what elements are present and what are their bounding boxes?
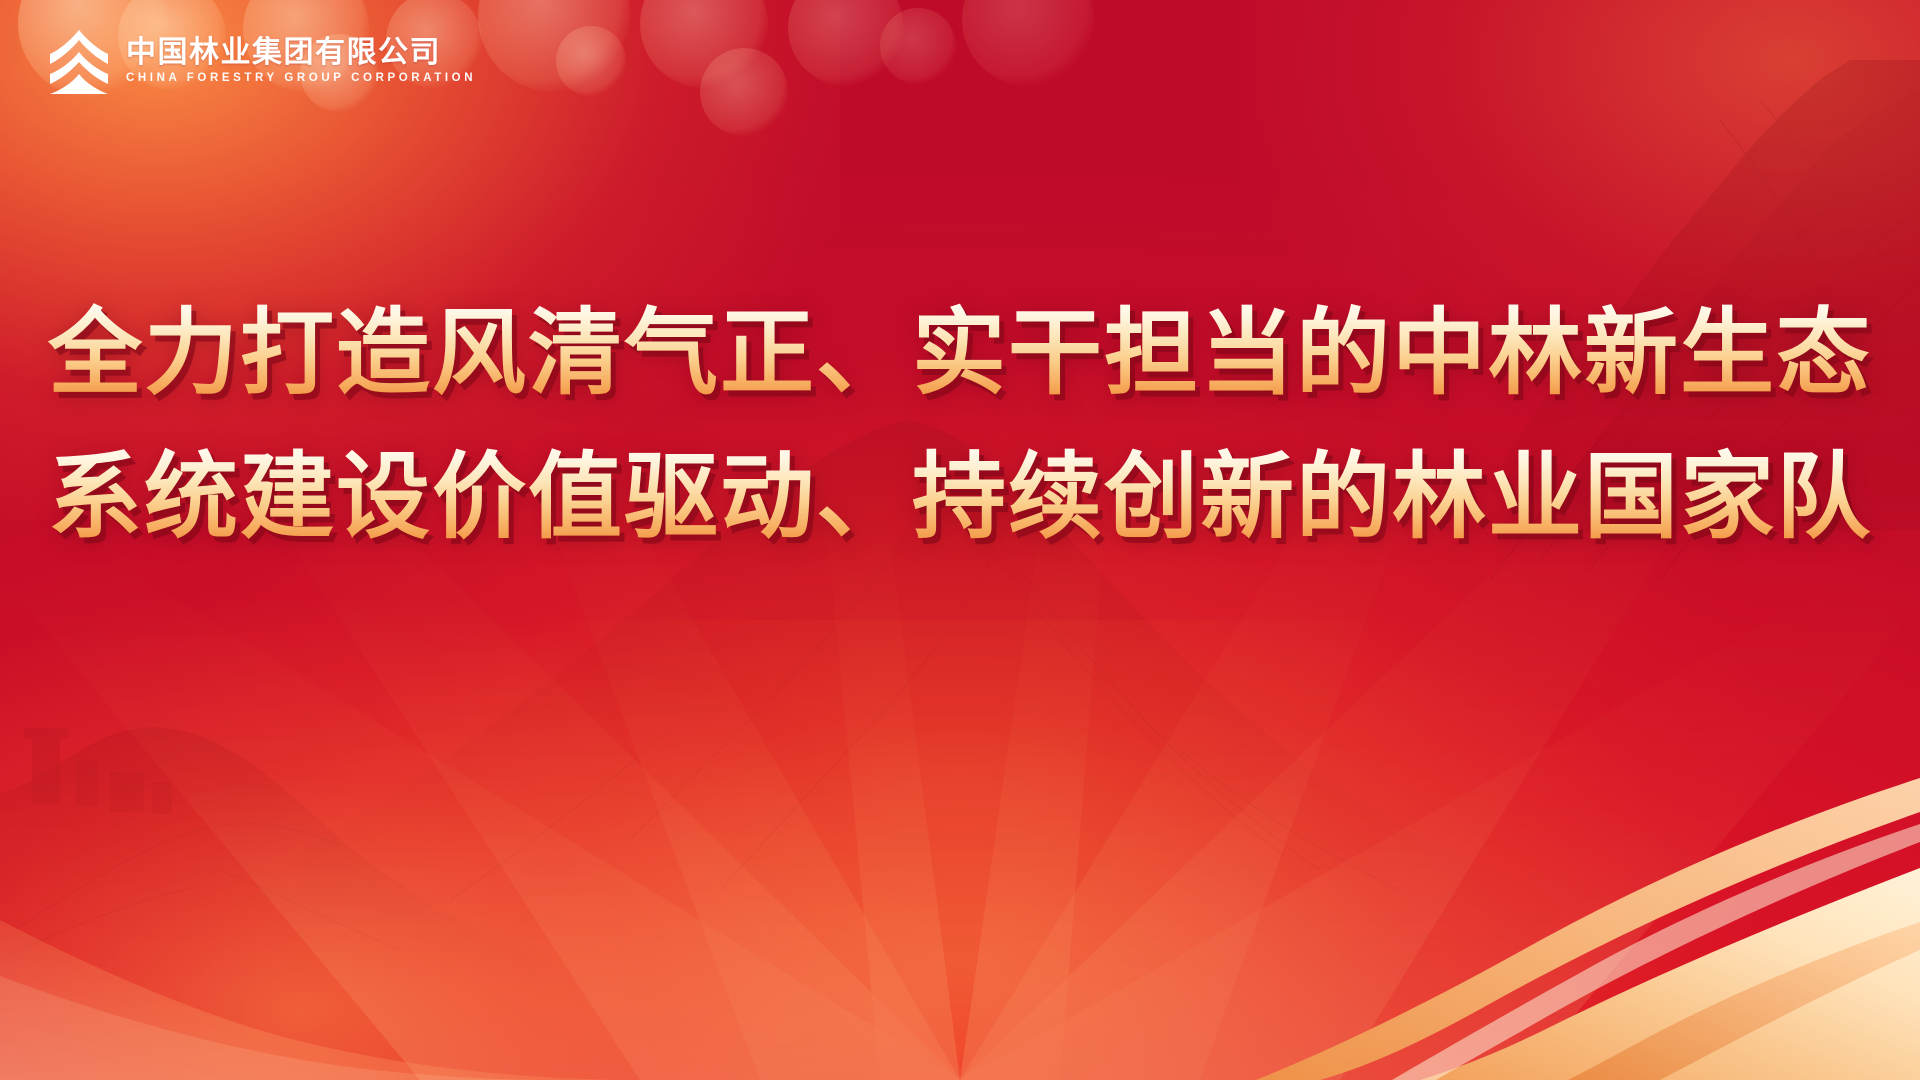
bokeh-circle [962, 0, 1094, 86]
ink-mountain-watermark-left [0, 640, 600, 1000]
gold-swoosh-bottom-left [0, 780, 620, 1080]
bokeh-circle [700, 48, 788, 136]
china-forestry-pagoda-mountain-logo-icon [48, 28, 110, 94]
bokeh-circle [556, 26, 626, 96]
headline-block: 全力打造风清气正、实干担当的中林新生态 系统建设价值驱动、持续创新的林业国家队 [0, 292, 1920, 558]
brand-name-en: CHINA FORESTRY GROUP CORPORATION [126, 72, 476, 85]
glow-bottom-left [0, 600, 930, 1080]
bokeh-circle [478, 0, 630, 92]
banner-canvas: 中国林业集团有限公司 CHINA FORESTRY GROUP CORPORAT… [0, 0, 1920, 1080]
brand-logo[interactable]: 中国林业集团有限公司 CHINA FORESTRY GROUP CORPORAT… [48, 28, 476, 94]
gold-ribbon-bottom-right [1020, 750, 1920, 1080]
brand-logo-text: 中国林业集团有限公司 CHINA FORESTRY GROUP CORPORAT… [126, 37, 476, 84]
headline-line-2: 系统建设价值驱动、持续创新的林业国家队 [36, 436, 1884, 558]
bokeh-circle [880, 8, 956, 84]
bokeh-circle [640, 0, 768, 88]
glow-bottom-center [210, 620, 1710, 1080]
headline-line-1: 全力打造风清气正、实干担当的中林新生态 [36, 292, 1884, 414]
bokeh-circle [788, 0, 904, 86]
brand-name-cn: 中国林业集团有限公司 [126, 37, 476, 69]
